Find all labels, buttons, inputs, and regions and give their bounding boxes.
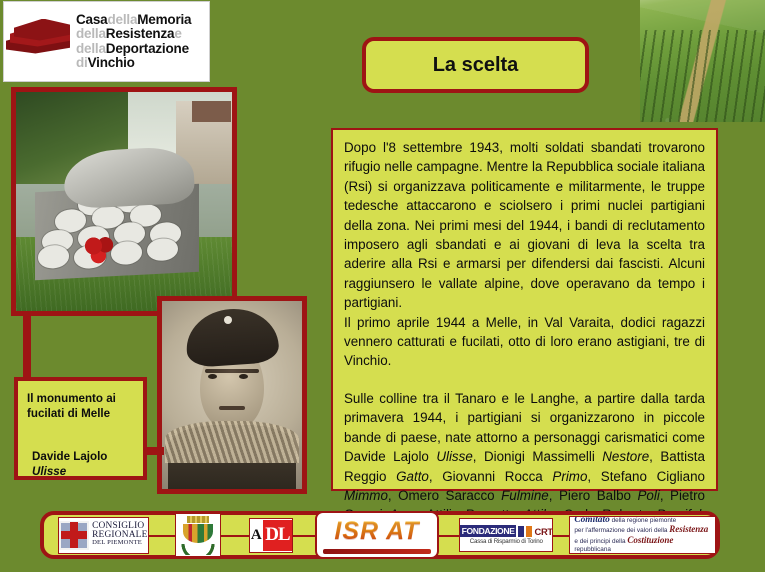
paragraph-1: Dopo l'8 settembre 1943, molti soldati s… bbox=[344, 138, 705, 313]
logo-fondazione-crt[interactable]: FONDAZIONE CRT Cassa di Risparmio di Tor… bbox=[459, 518, 553, 552]
portrait-brow bbox=[205, 369, 258, 373]
connector-line-vertical bbox=[23, 316, 31, 379]
comitato-script-3: Costituzione bbox=[627, 535, 673, 545]
crt-square-blue bbox=[518, 526, 524, 537]
crp-line2: REGIONALE bbox=[92, 531, 147, 540]
crp-line3: DEL PIEMONTE bbox=[92, 539, 147, 548]
institution-logo: CasadellaMemoria dellaResistenzae dellaD… bbox=[3, 1, 210, 82]
logo-comitato-resistenza[interactable]: Comitato della regione piemonte per l'af… bbox=[569, 516, 716, 554]
logo-mark-icon bbox=[4, 12, 76, 72]
portrait-mouth bbox=[219, 406, 244, 410]
piemonte-shield-icon bbox=[59, 521, 89, 550]
connector-line-horizontal bbox=[144, 447, 164, 455]
page-title: La scelta bbox=[362, 37, 589, 93]
comitato-text-1: della regione piemonte bbox=[612, 517, 677, 524]
memorial-plaque bbox=[39, 245, 70, 269]
cross-icon bbox=[61, 522, 87, 548]
logo-israt[interactable]: ISR AT bbox=[315, 511, 439, 559]
caption-portrait: Davide Lajolo Ulisse bbox=[27, 449, 135, 479]
vineyard-corner-graphic bbox=[640, 0, 765, 122]
monument-photo bbox=[11, 87, 237, 316]
beret-badge-icon bbox=[224, 316, 232, 324]
logo-line1-b: della bbox=[107, 12, 137, 27]
adl-letter-a: A bbox=[250, 520, 264, 551]
logo-consiglio-regionale-piemonte[interactable]: CONSIGLIO REGIONALE DEL PIEMONTE bbox=[58, 517, 149, 554]
logo-line2-b: Resistenza bbox=[106, 26, 175, 41]
comitato-wordmark: Comitato della regione piemonte per l'af… bbox=[574, 516, 711, 554]
logo-adl[interactable]: A DL bbox=[249, 518, 293, 553]
comitato-text-4: repubblicana bbox=[574, 546, 611, 553]
logo-line2-c: e bbox=[174, 26, 181, 41]
paragraph-2: Il primo aprile 1944 a Melle, in Val Var… bbox=[344, 313, 705, 371]
logo-line4-b: Vinchio bbox=[88, 55, 135, 70]
logo-line2-a: della bbox=[76, 26, 106, 41]
logo-line1-c: Memoria bbox=[137, 12, 191, 27]
logo-wordmark: CasadellaMemoria dellaResistenzae dellaD… bbox=[76, 13, 191, 71]
logo-line3-b: Deportazione bbox=[106, 41, 189, 56]
comitato-text-3: e dei principi della bbox=[574, 538, 625, 545]
crown-icon bbox=[187, 516, 209, 523]
memorial-flowers bbox=[83, 237, 118, 268]
comitato-script-1: Comitato bbox=[574, 516, 609, 525]
logo-comune-di-vinchio[interactable] bbox=[175, 513, 221, 557]
adl-letters-dl: DL bbox=[263, 520, 292, 551]
logo-line1-a: Casa bbox=[76, 12, 107, 27]
crt-square-orange bbox=[526, 526, 532, 537]
comune-shield-icon bbox=[183, 524, 213, 543]
israt-underline bbox=[323, 549, 431, 554]
main-text-panel: Dopo l'8 settembre 1943, molti soldati s… bbox=[331, 128, 718, 491]
slide-canvas: CasadellaMemoria dellaResistenzae dellaD… bbox=[0, 0, 765, 572]
paragraph-spacer bbox=[344, 371, 705, 389]
logo-line3-a: della bbox=[76, 41, 106, 56]
crt-subtitle: Cassa di Risparmio di Torino bbox=[470, 538, 543, 545]
comitato-text-2: per l'affermazione dei valori della bbox=[574, 527, 667, 534]
vine-rows bbox=[640, 30, 765, 122]
crp-wordmark: CONSIGLIO REGIONALE DEL PIEMONTE bbox=[92, 522, 147, 548]
image-caption-box: Il monumento ai fucilati di Melle Davide… bbox=[14, 377, 147, 480]
crt-initials: CRT bbox=[534, 526, 552, 537]
vineyard-photo bbox=[640, 0, 765, 122]
comitato-script-2: Resistenza bbox=[669, 524, 708, 534]
israt-wordmark: ISR AT bbox=[334, 517, 419, 546]
caption-monument: Il monumento ai fucilati di Melle bbox=[27, 391, 135, 421]
memorial-plaque bbox=[147, 238, 178, 262]
crt-fondazione: FONDAZIONE bbox=[460, 525, 517, 537]
portrait-photo bbox=[157, 296, 307, 494]
crt-top-row: FONDAZIONE CRT bbox=[460, 525, 553, 537]
logo-line4-a: di bbox=[76, 55, 88, 70]
portrait-fur-collar bbox=[165, 421, 299, 462]
page-title-label: La scelta bbox=[433, 54, 519, 77]
laurel-wreath-icon bbox=[178, 544, 218, 555]
sponsor-logo-bar: CONSIGLIO REGIONALE DEL PIEMONTE A DL IS… bbox=[40, 511, 720, 559]
